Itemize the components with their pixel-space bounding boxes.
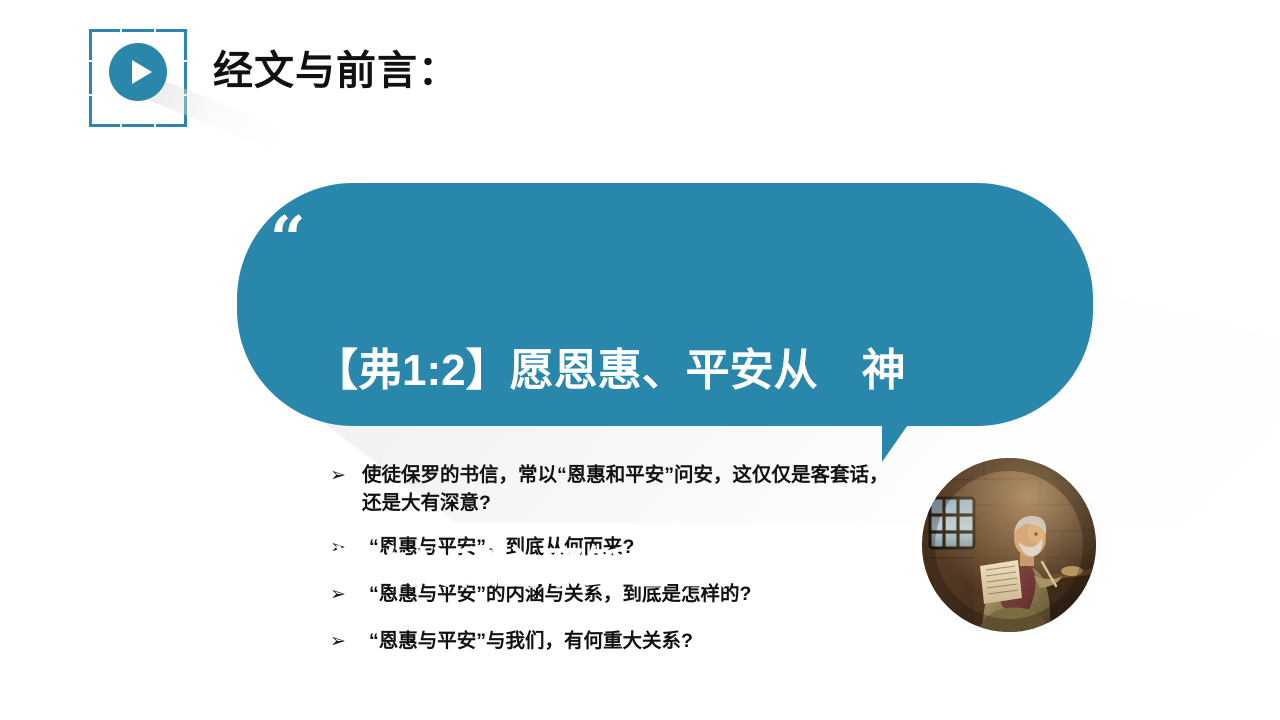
- play-triangle-glyph: [132, 60, 152, 84]
- logo-mark: [89, 29, 187, 127]
- scripture-line-2: 我们的父和主耶稣基督归与你: [276, 536, 1066, 602]
- bracket-frame-icon-bottom-right: [156, 96, 187, 127]
- bracket-frame-icon-top-mid: [122, 29, 154, 32]
- bracket-frame-icon-bottom-mid: [122, 124, 154, 127]
- slide-header: 经文与前言：: [0, 0, 1280, 150]
- scripture-line-1: 【弗1:2】愿恩惠、平安从 神: [276, 338, 1066, 404]
- scripture-quote-bubble: “ 【弗1:2】愿恩惠、平安从 神 我们的父和主耶稣基督归与你 们！: [237, 183, 1093, 426]
- slide-canvas: 经文与前言： “ 【弗1:2】愿恩惠、平安从 神 我们的父和主耶稣基督归与你 们…: [0, 0, 1280, 720]
- bracket-frame-icon-right-mid: [184, 62, 187, 94]
- bracket-frame-icon-bottom-left: [89, 96, 120, 127]
- scripture-text: 【弗1:2】愿恩惠、平安从 神 我们的父和主耶稣基督归与你 们！: [276, 206, 1066, 720]
- play-button-icon[interactable]: [109, 43, 167, 101]
- bracket-frame-icon-left-mid: [89, 62, 92, 94]
- page-title: 经文与前言：: [213, 47, 459, 95]
